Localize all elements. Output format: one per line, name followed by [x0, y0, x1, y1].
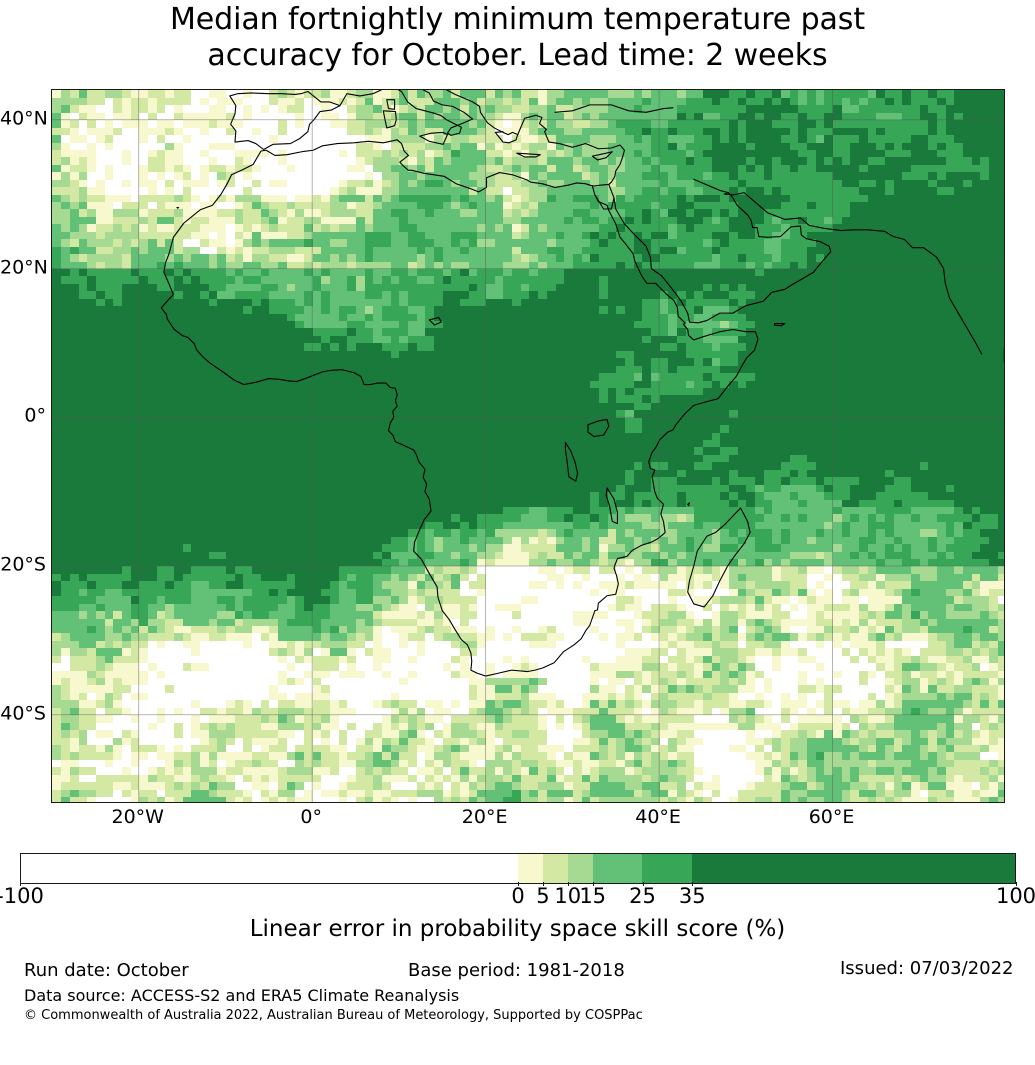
colorbar-segment	[518, 854, 543, 883]
colorbar-axis-label: Linear error in probability space skill …	[0, 916, 1035, 942]
lon-tick-label: 40°E	[598, 808, 718, 827]
colorbar-ticks: -1000510152535100	[0, 884, 1035, 910]
lat-tick-label: 40°N	[0, 109, 46, 128]
colorbar-tick-label: 35	[632, 884, 752, 908]
lat-tick-label: 20°N	[0, 258, 46, 277]
lat-tick-label: 40°S	[0, 704, 46, 723]
issued-date-label: Issued: 07/03/2022	[840, 958, 1014, 979]
lon-tick-label: 20°E	[425, 808, 545, 827]
colorbar-segment	[642, 854, 692, 883]
colorbar-segment	[568, 854, 593, 883]
figure-footer: Run date: October Base period: 1981-2018…	[0, 958, 1035, 1058]
map-plot-area[interactable]	[51, 89, 1005, 803]
colorbar-tick-label: -100	[0, 884, 80, 908]
lon-tick-label: 20°W	[78, 808, 198, 827]
climate-skill-figure: Median fortnightly minimum temperature p…	[0, 0, 1035, 1065]
colorbar-segment	[21, 854, 518, 883]
copyright-label: © Commonwealth of Australia 2022, Austra…	[24, 1008, 643, 1024]
lat-tick-label: 0°	[0, 407, 46, 426]
data-source-label: Data source: ACCESS-S2 and ERA5 Climate …	[24, 986, 459, 1005]
lon-tick-label: 60°E	[772, 808, 892, 827]
figure-title: Median fortnightly minimum temperature p…	[0, 0, 1035, 74]
colorbar-segment	[593, 854, 643, 883]
lat-tick-label: 20°S	[0, 556, 46, 575]
colorbar-segment	[543, 854, 568, 883]
colorbar-tick-label: 100	[956, 884, 1035, 908]
base-period-label: Base period: 1981-2018	[408, 960, 625, 981]
lon-tick-label: 0°	[251, 808, 371, 827]
colorbar-segment	[692, 854, 1015, 883]
skill-score-heatmap-raster	[52, 90, 1005, 803]
run-date-label: Run date: October	[24, 960, 189, 981]
colorbar[interactable]	[20, 853, 1016, 884]
